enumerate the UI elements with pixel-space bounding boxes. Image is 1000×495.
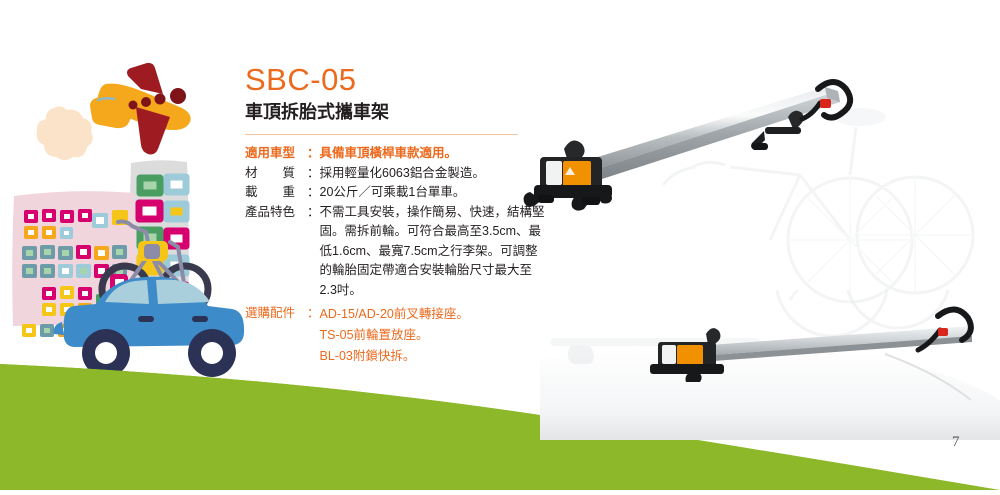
spec-colon: ：: [307, 144, 320, 164]
spec-value: 不需工具安裝，操作簡易、快速，結構堅固。需拆前輪。可符合最高至3.5cm、最低1…: [320, 203, 545, 301]
spec-row-material: 材 質 ： 採用輕量化6063鋁合金製造。: [245, 164, 545, 184]
product-photo-rack: [520, 55, 1000, 305]
catalog-page: SBC-05 車頂拆胎式攜車架 適用車型 ： 具備車頂橫桿車款適用。 材 質 ：…: [0, 0, 1000, 490]
spec-value: 20公斤／可乘載1台單車。: [320, 183, 545, 203]
accessory-colon: ：: [307, 304, 320, 325]
divider: [245, 134, 518, 135]
spec-row-vehicle-type: 適用車型 ： 具備車頂橫桿車款適用。: [245, 144, 545, 164]
car-roof: [540, 347, 1000, 441]
cloud-icon: [37, 106, 93, 160]
accessory-value: TS-05前輪置放座。: [320, 325, 545, 346]
accessory-row-2: TS-05前輪置放座。: [245, 325, 545, 346]
accessory-spacer: [245, 325, 307, 346]
spec-label: 材 質: [245, 164, 307, 184]
accessory-spacer-colon: [307, 325, 320, 346]
ghost-wheels: [776, 290, 950, 336]
product-info-block: SBC-05 車頂拆胎式攜車架 適用車型 ： 具備車頂橫桿車款適用。 材 質 ：…: [245, 62, 545, 367]
page-number: 7: [952, 434, 960, 451]
accessory-row-1: 選購配件 ： AD-15/AD-20前叉轉接座。: [245, 304, 545, 325]
spec-colon: ：: [307, 203, 320, 301]
accessory-label: 選購配件: [245, 304, 307, 325]
spec-value: 具備車頂橫桿車款適用。: [320, 144, 545, 164]
spec-label: 載 重: [245, 183, 307, 203]
spec-colon: ：: [307, 164, 320, 184]
product-name: 車頂拆胎式攜車架: [245, 100, 545, 124]
spec-colon: ：: [307, 183, 320, 203]
accessory-value: BL-03附鎖快拆。: [320, 346, 545, 367]
spec-label: 產品特色: [245, 203, 307, 301]
spec-row-load: 載 重 ： 20公斤／可乘載1台單車。: [245, 183, 545, 203]
accessory-spacer: [245, 346, 307, 367]
spec-value: 採用輕量化6063鋁合金製造。: [320, 164, 545, 184]
spec-row-features: 產品特色 ： 不需工具安裝，操作簡易、快速，結構堅固。需拆前輪。可符合最高至3.…: [245, 203, 545, 301]
rack-rail: [588, 87, 840, 179]
accessory-row-3: BL-03附鎖快拆。: [245, 346, 545, 367]
product-label: [677, 345, 703, 365]
product-photo-on-car: [540, 290, 1000, 440]
accessory-value: AD-15/AD-20前叉轉接座。: [320, 304, 545, 325]
accessory-spacer-colon: [307, 346, 320, 367]
rack-base-mounted: [650, 328, 724, 382]
airplane-icon: [90, 63, 191, 155]
product-model: SBC-05: [245, 62, 545, 98]
spec-label: 適用車型: [245, 144, 307, 164]
